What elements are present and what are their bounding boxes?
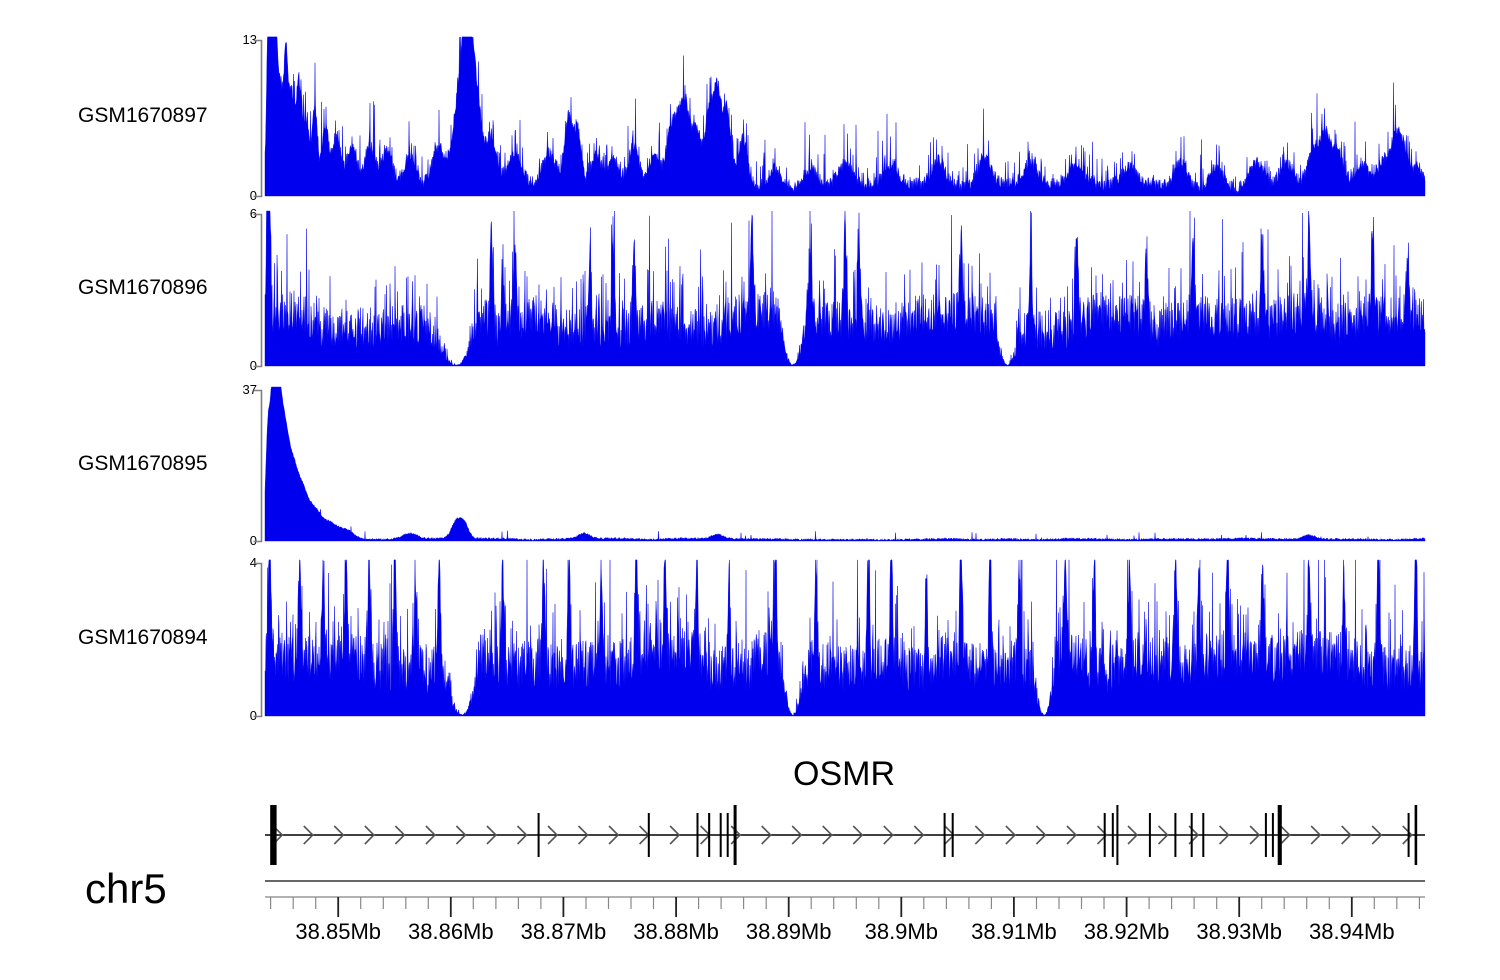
gene-exon[interactable] [1265,813,1267,857]
gene-exon[interactable] [697,813,699,857]
axis-tick-label: 38.91Mb [954,919,1074,945]
axis-tick-label: 38.93Mb [1179,919,1299,945]
gene-exon[interactable] [708,813,710,857]
genome-browser-view: GSM1670897130GSM167089660GSM1670895370GS… [0,0,1500,980]
coverage-plot-GSM1670894 [0,547,1500,732]
coverage-track-GSM1670894[interactable]: GSM167089440 [0,547,1500,732]
y-axis-bracket-GSM1670895 [254,391,262,542]
y-axis-bracket-GSM1670896 [254,215,262,367]
gene-exon[interactable] [1112,813,1114,857]
coverage-area-GSM1670895 [265,387,1425,541]
axis-tick-label: 38.92Mb [1067,919,1187,945]
gene-exon[interactable] [727,813,729,857]
gene-exon[interactable] [944,813,946,857]
y-axis-bracket-GSM1670897 [254,41,262,197]
axis-tick-label: 38.86Mb [391,919,511,945]
gene-exon[interactable] [1191,813,1193,857]
gene-exon[interactable] [1272,813,1274,857]
y-axis-bracket-GSM1670894 [254,564,262,717]
coverage-track-GSM1670895[interactable]: GSM1670895370 [0,374,1500,557]
coverage-area-GSM1670894 [265,560,1425,716]
gene-exon[interactable] [720,813,722,857]
gene-exon[interactable] [1104,813,1106,857]
gene-exon[interactable] [538,813,540,857]
gene-exon[interactable] [1116,805,1118,865]
gene-exon[interactable] [270,805,276,865]
gene-exon[interactable] [1202,813,1204,857]
gene-exon[interactable] [648,813,650,857]
coverage-track-GSM1670896[interactable]: GSM167089660 [0,198,1500,382]
coverage-plot-GSM1670896 [0,198,1500,382]
coverage-track-GSM1670897[interactable]: GSM1670897130 [0,24,1500,212]
coverage-plot-GSM1670897 [0,24,1500,212]
gene-exon[interactable] [1174,813,1176,857]
gene-annotation-track[interactable]: OSMR [0,755,1500,875]
coverage-area-GSM1670897 [265,37,1425,196]
axis-tick-label: 38.85Mb [278,919,398,945]
coverage-area-GSM1670896 [265,211,1425,366]
axis-svg [0,875,1500,925]
gene-exon[interactable] [734,805,737,865]
gene-exon[interactable] [1415,805,1418,865]
coverage-plot-GSM1670895 [0,374,1500,557]
gene-model-svg[interactable] [0,755,1500,875]
axis-tick-label: 38.94Mb [1292,919,1412,945]
gene-exon[interactable] [952,813,954,857]
genomic-coordinate-axis[interactable]: 38.85Mb38.86Mb38.87Mb38.88Mb38.89Mb38.9M… [0,875,1500,975]
axis-tick-label: 38.89Mb [729,919,849,945]
axis-tick-label: 38.9Mb [841,919,961,945]
gene-exon[interactable] [1278,805,1282,865]
gene-exon[interactable] [1408,813,1410,857]
axis-tick-label: 38.87Mb [503,919,623,945]
gene-exon[interactable] [1149,813,1151,857]
axis-tick-label: 38.88Mb [616,919,736,945]
